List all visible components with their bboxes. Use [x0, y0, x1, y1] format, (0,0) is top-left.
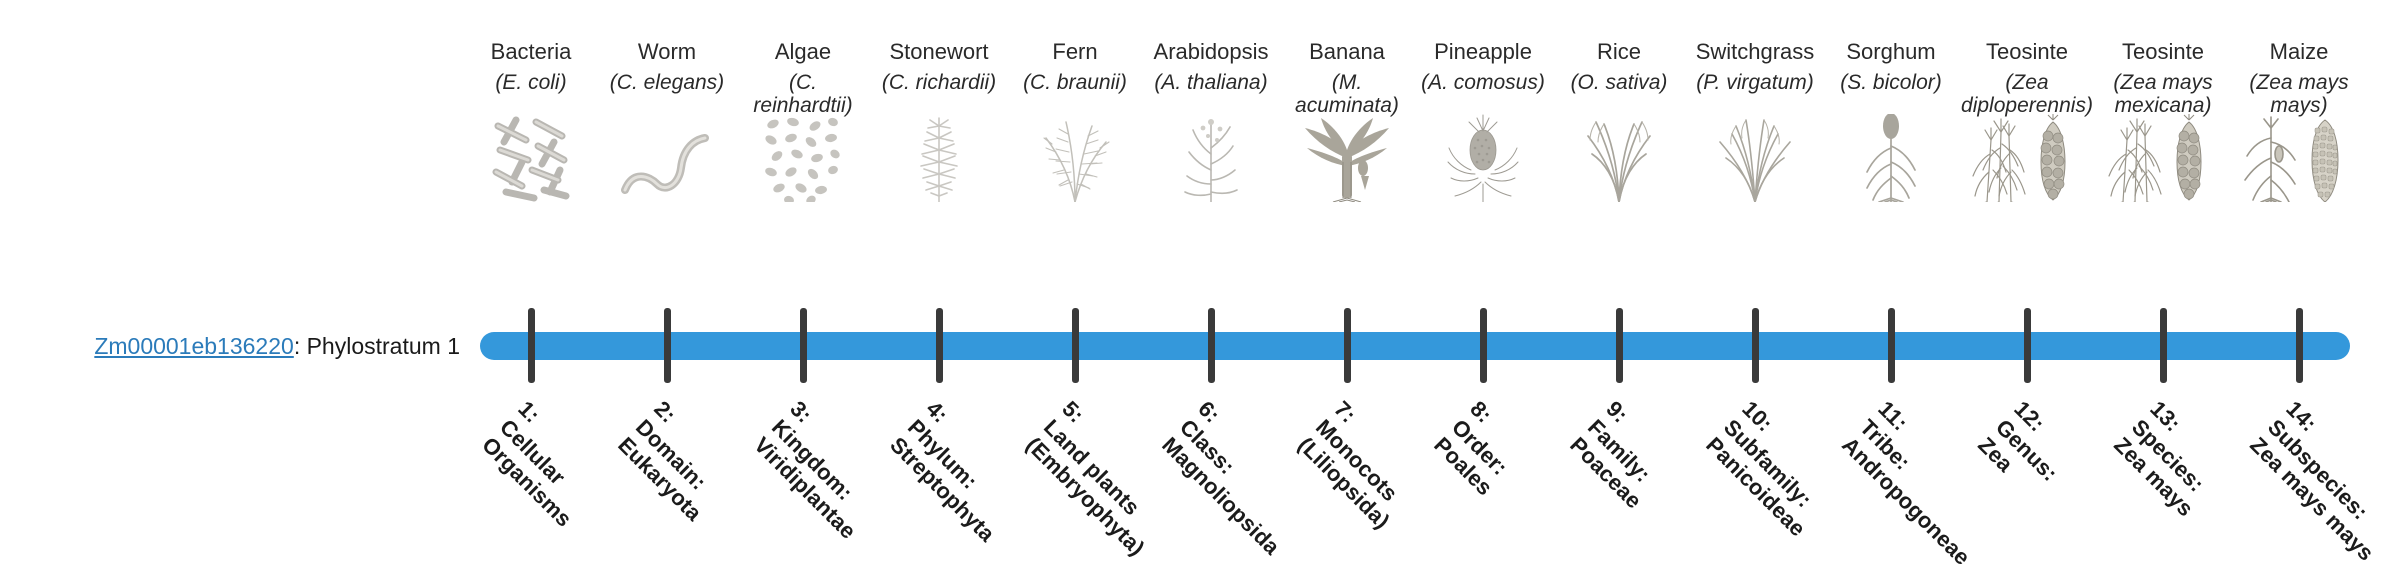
node-tick-3[interactable]: [800, 308, 807, 383]
scientific-name-label: (M. acuminata): [1281, 72, 1413, 117]
taxonomy-node-7: Banana(M. acuminata) 7: Monocots (Liliop…: [1279, 0, 1415, 580]
scientific-name-label: (C. elegans): [601, 72, 733, 95]
taxonomy-node-8: Pineapple(A. comosus) 8: Order: Poales: [1415, 0, 1551, 580]
node-tick-14[interactable]: [2296, 308, 2303, 383]
teosinte-plant-and-ear-icon: [1959, 112, 2095, 202]
taxonomy-node-6: Arabidopsis(A. thaliana) 6: Class: Magno…: [1143, 0, 1279, 580]
node-tick-13[interactable]: [2160, 308, 2167, 383]
node-tick-8[interactable]: [1480, 308, 1487, 383]
taxonomy-node-10: Switchgrass(P. virgatum) 10: Subfamily: …: [1687, 0, 1823, 580]
scientific-name-label: (A. thaliana): [1145, 72, 1277, 95]
scientific-name-label: (E. coli): [465, 72, 597, 95]
taxonomy-node-3: Algae(C. reinhardtii) 3: Kingdom: Viridi…: [735, 0, 871, 580]
phylostratigraphy-figure: Zm00001eb136220: Phylostratum 1 Bacteria…: [0, 0, 2400, 580]
node-tick-7[interactable]: [1344, 308, 1351, 383]
taxonomy-node-12: Teosinte(Zea diploperennis): [1959, 0, 2095, 580]
scientific-name-label: (C. braunii): [1009, 72, 1141, 95]
banana-plant-icon: [1279, 112, 1415, 202]
teosinte-plant-and-ear-icon: [2095, 112, 2231, 202]
fern-frond-icon: [1007, 112, 1143, 202]
scientific-name-label: (S. bicolor): [1825, 72, 1957, 95]
node-tick-11[interactable]: [1888, 308, 1895, 383]
common-name-label: Rice: [1551, 40, 1687, 64]
maize-plant-and-ear-icon: [2231, 112, 2367, 202]
common-name-label: Banana: [1279, 40, 1415, 64]
phylostratum-value: Phylostratum 1: [307, 333, 460, 359]
node-tick-2[interactable]: [664, 308, 671, 383]
scientific-name-label: (Zea mays mays): [2233, 72, 2365, 117]
node-tick-5[interactable]: [1072, 308, 1079, 383]
node-tick-1[interactable]: [528, 308, 535, 383]
common-name-label: Teosinte: [2095, 40, 2231, 64]
arabidopsis-rosette-icon: [1143, 112, 1279, 202]
pineapple-plant-icon: [1415, 112, 1551, 202]
gene-phylostratum-label: Zm00001eb136220: Phylostratum 1: [40, 335, 460, 358]
taxonomy-node-11: Sorghum(S. bicolor) 11: Tribe: Andropogo…: [1823, 0, 1959, 580]
common-name-label: Sorghum: [1823, 40, 1959, 64]
node-tick-6[interactable]: [1208, 308, 1215, 383]
nematode-worm-icon: [599, 112, 735, 202]
common-name-label: Stonewort: [871, 40, 1007, 64]
node-tick-9[interactable]: [1616, 308, 1623, 383]
common-name-label: Worm: [599, 40, 735, 64]
algae-cells-icon: [735, 112, 871, 202]
common-name-label: Switchgrass: [1687, 40, 1823, 64]
gene-id-link[interactable]: Zm00001eb136220: [94, 333, 294, 359]
rice-grass-icon: [1551, 112, 1687, 202]
taxonomy-node-1: Bacteria(E. coli) 1: Cellular Organisms: [463, 0, 599, 580]
scientific-name-label: (A. comosus): [1417, 72, 1549, 95]
taxonomy-node-5: Fern(C. braunii) 5: Land plants (Embryop…: [1007, 0, 1143, 580]
gene-label-separator: :: [294, 333, 307, 359]
common-name-label: Teosinte: [1959, 40, 2095, 64]
stonewort-alga-icon: [871, 112, 1007, 202]
taxonomy-node-14: Maize(Zea mays mays): [2231, 0, 2367, 580]
common-name-label: Algae: [735, 40, 871, 64]
common-name-label: Maize: [2231, 40, 2367, 64]
node-tick-10[interactable]: [1752, 308, 1759, 383]
scientific-name-label: (Zea mays mexicana): [2097, 72, 2229, 117]
bacteria-rods-icon: [463, 112, 599, 202]
common-name-label: Fern: [1007, 40, 1143, 64]
taxonomy-node-4: Stonewort(C. richardii) 4: Phylum: Strep…: [871, 0, 1007, 580]
taxonomy-node-9: Rice(O. sativa) 9: Family: Poaceae: [1551, 0, 1687, 580]
node-tick-4[interactable]: [936, 308, 943, 383]
scientific-name-label: (C. richardii): [873, 72, 1005, 95]
common-name-label: Arabidopsis: [1143, 40, 1279, 64]
switchgrass-clump-icon: [1687, 112, 1823, 202]
taxonomy-node-13: Teosinte(Zea mays mexicana): [2095, 0, 2231, 580]
node-tick-12[interactable]: [2024, 308, 2031, 383]
scientific-name-label: (Zea diploperennis): [1961, 72, 2093, 117]
common-name-label: Bacteria: [463, 40, 599, 64]
scientific-name-label: (P. virgatum): [1689, 72, 1821, 95]
sorghum-panicle-icon: [1823, 112, 1959, 202]
scientific-name-label: (C. reinhardtii): [737, 72, 869, 117]
common-name-label: Pineapple: [1415, 40, 1551, 64]
scientific-name-label: (O. sativa): [1553, 72, 1685, 95]
taxonomy-node-2: Worm(C. elegans) 2: Domain: Eukaryota: [599, 0, 735, 580]
rank-label-14: 14: Subspecies: Zea mays mays: [2245, 396, 2400, 580]
